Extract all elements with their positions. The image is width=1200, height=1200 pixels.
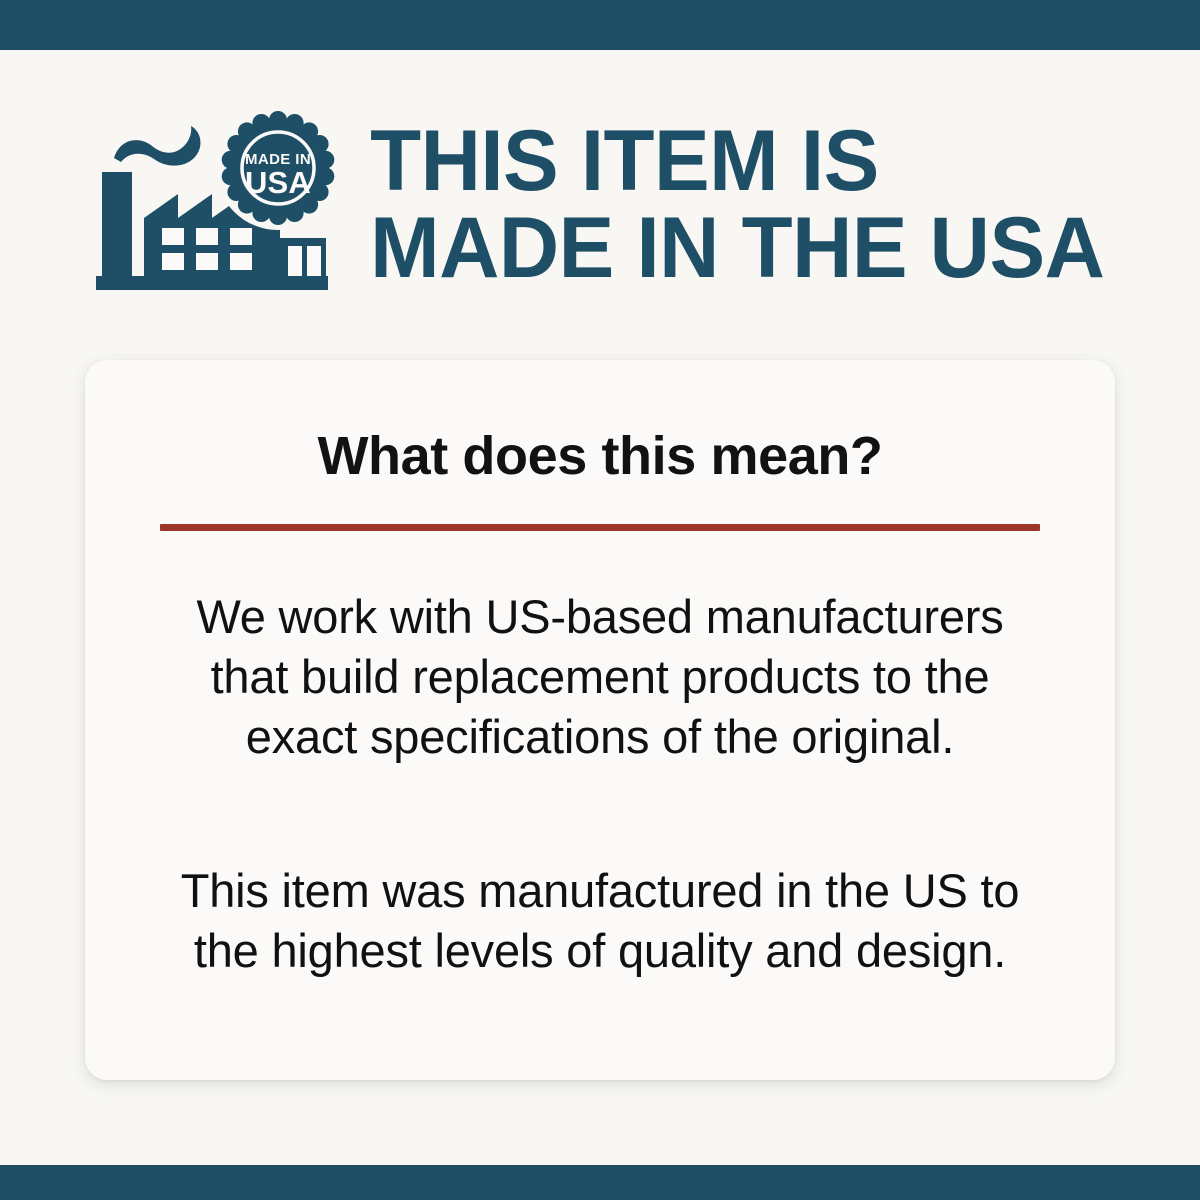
smoke-plume-shape bbox=[114, 126, 200, 166]
page-title: THIS ITEM IS MADE IN THE USA bbox=[341, 118, 1122, 292]
factory-base-shape bbox=[96, 276, 328, 290]
card-body: We work with US-based manufacturers that… bbox=[85, 531, 1115, 981]
chimney-shape bbox=[102, 172, 132, 276]
made-in-usa-seal-icon: MADE IN USA bbox=[216, 110, 340, 230]
masthead: MADE IN USA THIS ITEM IS MADE IN THE USA bbox=[96, 102, 1146, 307]
seal-line-2: USA bbox=[245, 165, 311, 200]
card-heading: What does this mean? bbox=[85, 360, 1115, 486]
card-divider bbox=[160, 524, 1040, 531]
bottom-accent-bar bbox=[0, 1165, 1200, 1200]
brand-logo: MADE IN USA bbox=[96, 110, 341, 300]
paragraph-quality-statement: This item was manufactured in the US to … bbox=[157, 767, 1043, 981]
page-canvas: MADE IN USA THIS ITEM IS MADE IN THE USA… bbox=[0, 50, 1200, 1165]
explainer-card: What does this mean? We work with US-bas… bbox=[85, 360, 1115, 1080]
top-accent-bar bbox=[0, 0, 1200, 50]
factory-icon: MADE IN USA bbox=[96, 110, 341, 300]
paragraph-manufacturing-partners: We work with US-based manufacturers that… bbox=[157, 531, 1043, 767]
